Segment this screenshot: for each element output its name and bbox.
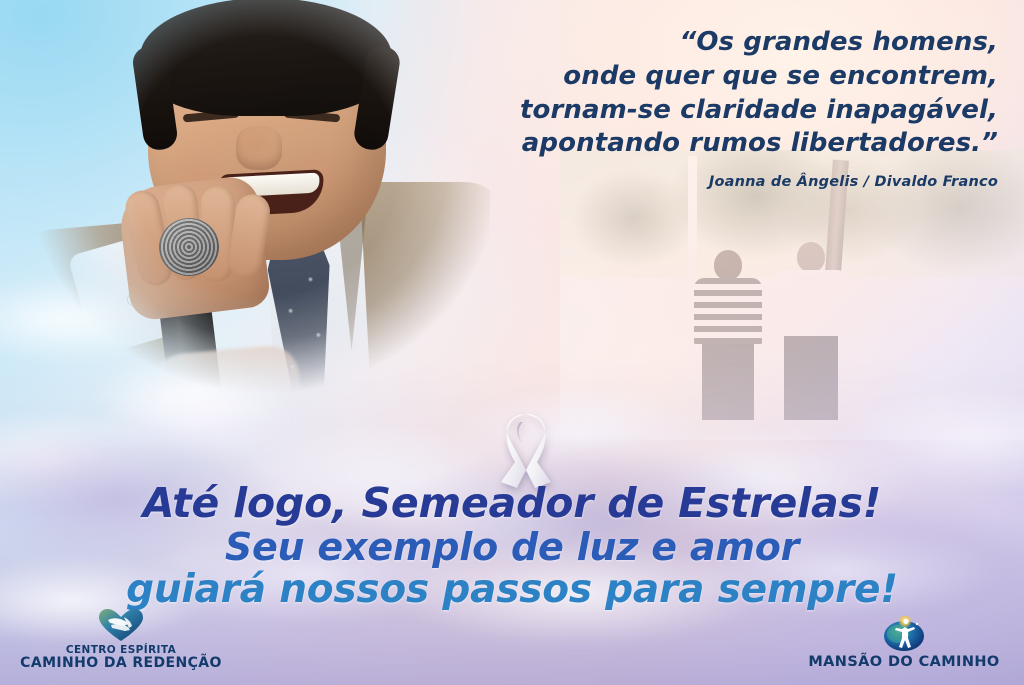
hair bbox=[140, 0, 392, 116]
quote-line-1: “Os grandes homens, bbox=[378, 26, 998, 60]
logo-left-line-2: CAMINHO DA REDENÇÃO bbox=[20, 656, 222, 671]
figure-head bbox=[797, 242, 825, 272]
logo-centro-espirita: CENTRO ESPÍRITA CAMINHO DA REDENÇÃO bbox=[16, 608, 226, 671]
quote-line-3: tornam-se claridade inapagável, bbox=[378, 94, 998, 128]
nose bbox=[236, 126, 282, 170]
headline-block: Até logo, Semeador de Estrelas! Seu exem… bbox=[0, 483, 1024, 609]
logo-mansao-do-caminho: MANSÃO DO CAMINHO bbox=[794, 616, 1014, 671]
figure-head bbox=[714, 250, 742, 280]
quote-attribution: Joanna de Ângelis / Divaldo Franco bbox=[378, 173, 998, 192]
headline-line-2: Seu exemplo de luz e amor bbox=[0, 528, 1024, 567]
headline-line-1: Até logo, Semeador de Estrelas! bbox=[0, 483, 1024, 525]
headline-line-3: guiará nossos passos para sempre! bbox=[0, 570, 1024, 610]
logo-right-text: MANSÃO DO CAMINHO bbox=[808, 655, 999, 671]
logo-left-text: CENTRO ESPÍRITA CAMINHO DA REDENÇÃO bbox=[20, 645, 222, 671]
globe-with-figure-icon bbox=[881, 616, 927, 652]
memorial-poster: “Os grandes homens, onde quer que se enc… bbox=[0, 0, 1024, 685]
heart-with-hands-icon bbox=[98, 608, 144, 642]
lower-hand bbox=[147, 344, 303, 435]
quote-line-4: apontando rumos libertadores.” bbox=[378, 127, 998, 161]
quote-block: “Os grandes homens, onde quer que se enc… bbox=[378, 26, 998, 192]
quote-line-2: onde quer que se encontrem, bbox=[378, 60, 998, 94]
logo-right-line-2: MANSÃO DO CAMINHO bbox=[808, 655, 999, 671]
